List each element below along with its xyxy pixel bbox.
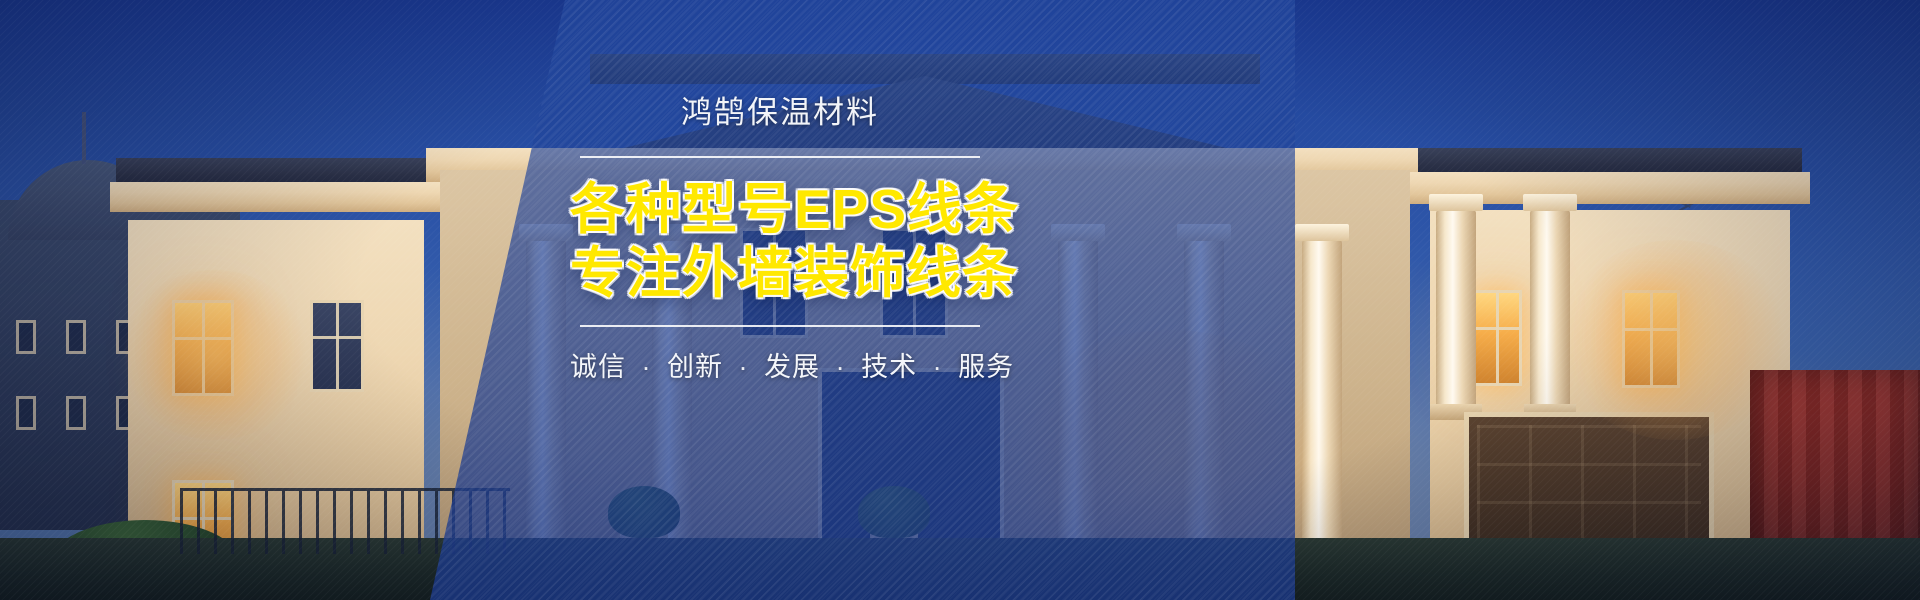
headline-line-1: 各种型号EPS线条: [570, 180, 990, 238]
tagline-item: 创新: [667, 352, 723, 382]
headline-group: 各种型号EPS线条 专注外墙装饰线条: [570, 180, 990, 303]
tagline-separator: ·: [836, 352, 846, 382]
tagline-item: 服务: [958, 352, 1014, 382]
tagline-item: 发展: [764, 352, 820, 382]
tagline-item: 诚信: [570, 352, 626, 382]
banner-text-block: 鸿鹄保温材料 各种型号EPS线条 专注外墙装饰线条 诚信 · 创新 · 发展 ·…: [570, 96, 990, 384]
divider-bottom: [580, 325, 980, 327]
divider-top: [580, 156, 980, 158]
tagline-separator: ·: [642, 352, 652, 382]
tagline-item: 技术: [861, 352, 917, 382]
tagline: 诚信 · 创新 · 发展 · 技术 · 服务: [570, 345, 990, 384]
brand-name: 鸿鹄保温材料: [570, 96, 990, 130]
tagline-separator: ·: [739, 352, 749, 382]
headline-line-2: 专注外墙装饰线条: [570, 244, 990, 302]
tagline-separator: ·: [933, 352, 943, 382]
banner-stage: 鸿鹄保温材料 各种型号EPS线条 专注外墙装饰线条 诚信 · 创新 · 发展 ·…: [0, 0, 1920, 600]
